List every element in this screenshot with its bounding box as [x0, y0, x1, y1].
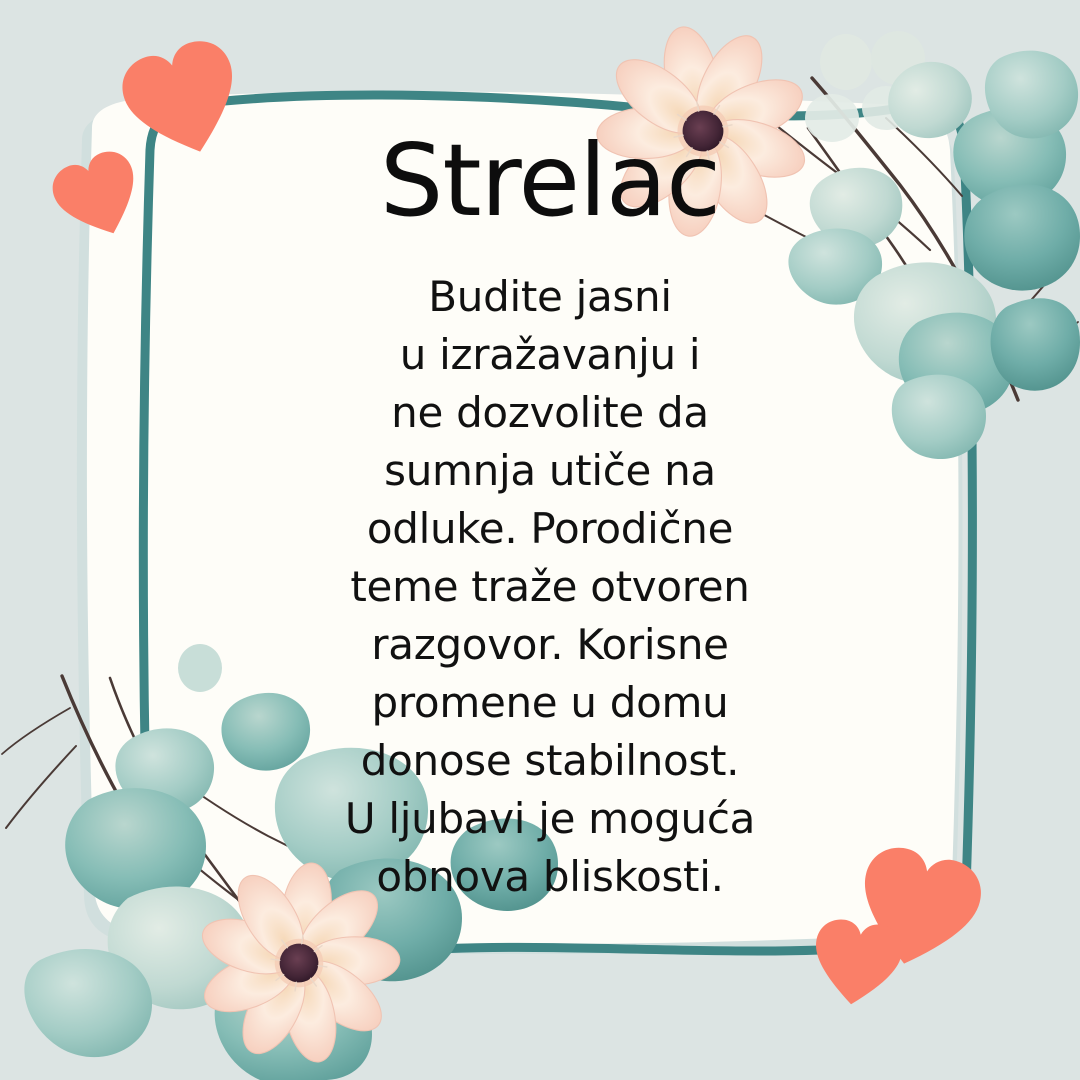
heart-icon-bottom-right-small: [808, 916, 905, 1010]
card-text-stack: Strelac Budite jasni u izražavanju i ne …: [300, 128, 800, 905]
heart-icon-top-left-large: [114, 33, 253, 169]
page-title: Strelac: [300, 128, 800, 234]
horoscope-body-text: Budite jasni u izražavanju i ne dozvolit…: [300, 268, 800, 905]
horoscope-card: Strelac Budite jasni u izražavanju i ne …: [0, 0, 1080, 1080]
heart-icon-top-left-small: [46, 144, 152, 248]
